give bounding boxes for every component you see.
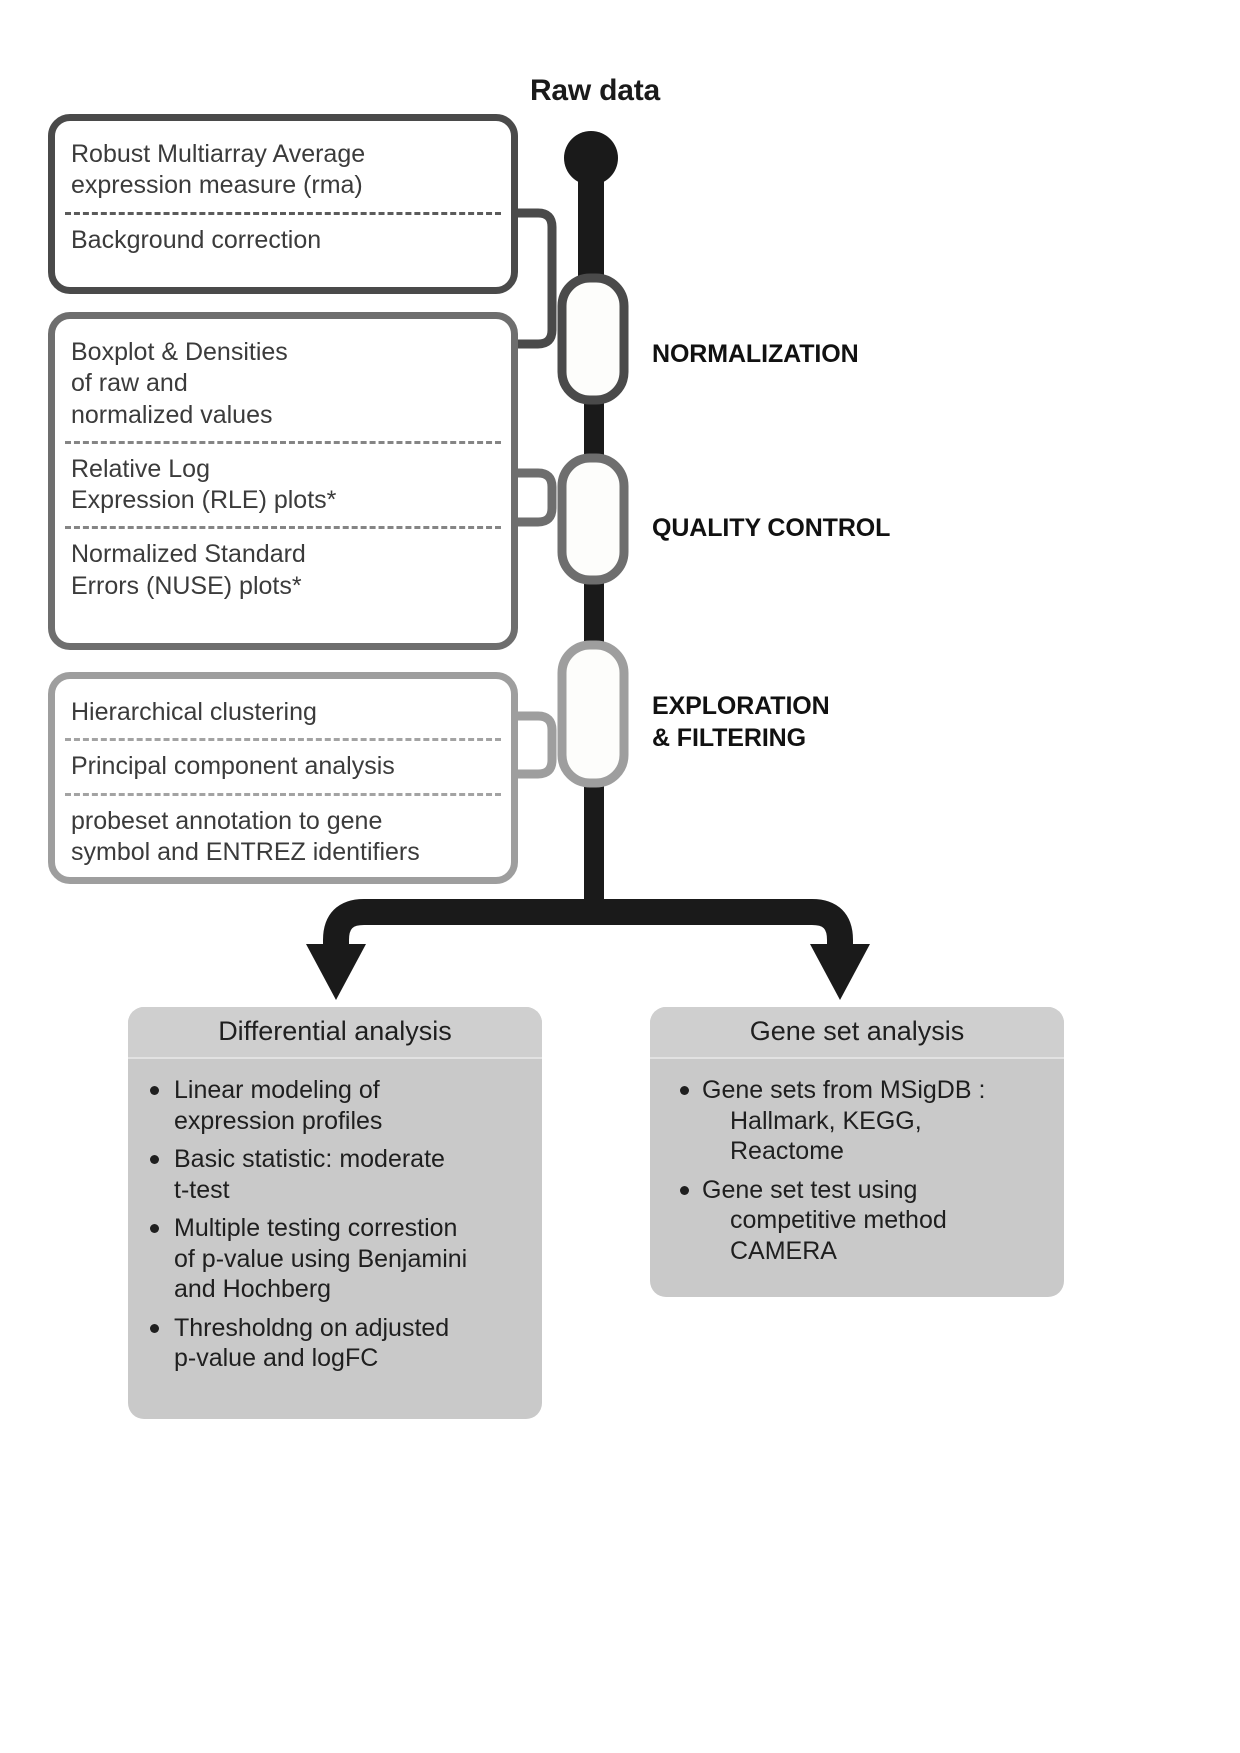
list-item: Gene set test using competitive method C… [674,1175,1050,1267]
bullet-line: t-test [174,1176,230,1204]
stage-node-normalization [562,278,624,400]
step-line: Principal component analysis [71,751,497,782]
arrowhead-differential [306,944,366,1000]
connector-quality-control [516,473,552,522]
list-item: Gene sets from MSigDB : Hallmark, KEGG, … [674,1075,1050,1167]
step-line: expression measure (rma) [71,170,497,201]
arrowhead-geneset [810,944,870,1000]
bullet-line: and Hochberg [174,1275,331,1303]
list-item: Multiple testing correstion of p-value u… [144,1213,528,1305]
list-item: Linear modeling of expression profiles [144,1075,528,1136]
connector-exploration [516,716,552,774]
stage-label-normalization: NORMALIZATION [652,338,859,370]
step-line: normalized values [71,400,497,431]
step-line: symbol and ENTREZ identifiers [71,837,497,868]
step-line: Relative Log [71,454,497,485]
bullet-line: Hallmark, KEGG, [702,1106,1050,1137]
step-item: Relative Log Expression (RLE) plots* [55,444,511,527]
bullet-line: CAMERA [702,1236,1050,1267]
step-box-exploration-filtering: Hierarchical clustering Principal compon… [48,672,518,884]
stage-label-line: & FILTERING [652,722,830,754]
raw-data-node [564,131,618,185]
step-line: probeset annotation to gene [71,806,497,837]
step-line: Boxplot & Densities [71,337,497,368]
split-arrows [306,912,870,1000]
stage-node-quality-control [562,458,624,580]
stage-label-quality-control: QUALITY CONTROL [652,512,890,544]
step-line: Errors (NUSE) plots* [71,571,497,602]
panel-differential-analysis: Differential analysis Linear modeling of… [128,1007,542,1419]
step-line: Robust Multiarray Average [71,139,497,170]
step-item: Boxplot & Densities of raw and normalize… [55,327,511,441]
step-box-quality-control: Boxplot & Densities of raw and normalize… [48,312,518,650]
step-item: Background correction [55,215,511,266]
step-line: Background correction [71,225,497,256]
list-item: Thresholdng on adjusted p-value and logF… [144,1313,528,1374]
step-item: Normalized Standard Errors (NUSE) plots* [55,529,511,612]
step-item: Robust Multiarray Average expression mea… [55,129,511,212]
panel-gene-set-analysis: Gene set analysis Gene sets from MSigDB … [650,1007,1064,1297]
bullet-line: Basic statistic: moderate [174,1145,445,1173]
connector-normalization [516,213,552,344]
step-box-normalization: Robust Multiarray Average expression mea… [48,114,518,294]
bullet-line: Reactome [702,1136,1050,1167]
bullet-line: competitive method [702,1205,1050,1236]
stage-node-exploration [562,645,624,783]
step-item: Hierarchical clustering [55,687,511,738]
panel-body: Linear modeling of expression profiles B… [128,1059,542,1394]
step-line: Hierarchical clustering [71,697,497,728]
step-item: probeset annotation to gene symbol and E… [55,796,511,879]
bullet-line: Linear modeling of [174,1076,380,1104]
bullet-line: Multiple testing correstion [174,1214,457,1242]
panel-header: Gene set analysis [650,1007,1064,1059]
bullet-line: expression profiles [174,1107,382,1135]
step-line: Expression (RLE) plots* [71,485,497,516]
step-item: Principal component analysis [55,741,511,792]
bullet-line: Gene set test using [702,1176,917,1204]
bullet-line: p-value and logFC [174,1344,378,1372]
step-line: Normalized Standard [71,539,497,570]
list-item: Basic statistic: moderate t-test [144,1144,528,1205]
diagram-canvas: Raw data Robust Multiarray Average expre… [0,0,1240,1753]
step-line: of raw and [71,368,497,399]
panel-header: Differential analysis [128,1007,542,1059]
bullet-line: Gene sets from MSigDB : [702,1076,985,1104]
bullet-line: Thresholdng on adjusted [174,1314,449,1342]
stage-label-exploration-filtering: EXPLORATION & FILTERING [652,690,830,754]
bullet-line: of p-value using Benjamini [174,1245,467,1273]
panel-body: Gene sets from MSigDB : Hallmark, KEGG, … [650,1059,1064,1286]
page-title: Raw data [455,74,735,108]
stage-label-line: EXPLORATION [652,690,830,722]
